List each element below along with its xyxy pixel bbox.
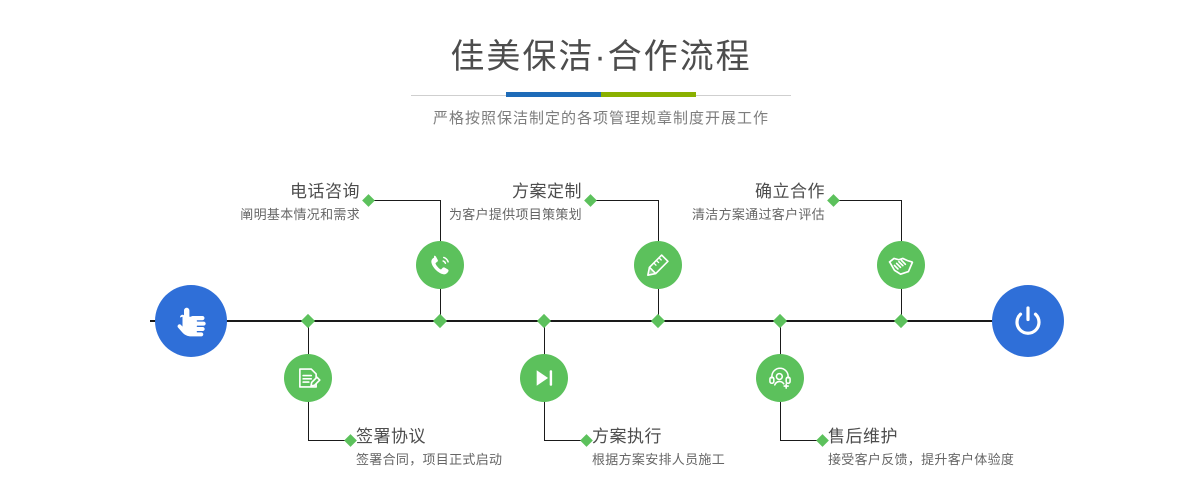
title-divider [411,92,791,98]
step-desc-3: 为客户提供项目策策划 [312,205,582,225]
customer-service-icon [767,365,793,391]
step-icon-1[interactable] [416,241,464,289]
step-label-5: 确立合作 清洁方案通过客户评估 [555,181,825,225]
step-title-6: 售后维护 [828,426,1014,448]
axis-marker-step-3 [651,314,665,328]
axis-marker-step-4 [537,314,551,328]
step-icon-3[interactable] [634,241,682,289]
connector-horizontal-step-3 [592,200,658,201]
document-edit-icon [295,365,321,391]
divider-segment-green [601,92,696,97]
play-execute-icon [531,365,557,391]
handshake-icon [887,251,915,279]
axis-marker-step-5 [894,314,908,328]
connector-horizontal-step-1 [370,200,440,201]
axis-marker-step-2 [301,314,315,328]
flow-end-node[interactable] [992,285,1064,357]
step-desc-2: 签署合同，项目正式启动 [356,450,502,470]
label-marker-step-2 [344,434,357,447]
step-label-4: 方案执行 根据方案安排人员施工 [592,426,725,470]
step-label-3: 方案定制 为客户提供项目策策划 [312,181,582,225]
timeline-axis [150,320,1050,322]
step-title-2: 签署协议 [356,426,502,448]
step-icon-6[interactable] [756,354,804,402]
divider-segment-blue [506,92,601,97]
pencil-ruler-icon [645,252,671,278]
label-marker-step-4 [580,434,593,447]
cooperation-flow-page: 佳美保洁·合作流程 严格按照保洁制定的各项管理规章制度开展工作 [0,0,1202,502]
step-icon-2[interactable] [284,354,332,402]
axis-marker-step-6 [773,314,787,328]
step-label-6: 售后维护 接受客户反馈，提升客户体验度 [828,426,1014,470]
step-title-3: 方案定制 [312,181,582,203]
step-label-2: 签署协议 签署合同，项目正式启动 [356,426,502,470]
page-subtitle: 严格按照保洁制定的各项管理规章制度开展工作 [0,108,1202,130]
step-desc-5: 清洁方案通过客户评估 [555,205,825,225]
step-desc-4: 根据方案安排人员施工 [592,450,725,470]
step-title-4: 方案执行 [592,426,725,448]
flow-diagram: 电话咨询 阐明基本情况和需求 签署协议 签署合同，项目正式启动 [0,150,1202,502]
page-header: 佳美保洁·合作流程 严格按照保洁制定的各项管理规章制度开展工作 [0,0,1202,130]
phone-call-icon [426,251,454,279]
power-button-icon [1008,301,1048,341]
connector-horizontal-step-5 [835,200,901,201]
pointing-hand-icon [171,301,211,341]
step-icon-4[interactable] [520,354,568,402]
step-icon-5[interactable] [877,241,925,289]
flow-start-node[interactable] [155,285,227,357]
axis-marker-step-1 [433,314,447,328]
label-marker-step-6 [816,434,829,447]
step-desc-6: 接受客户反馈，提升客户体验度 [828,450,1014,470]
label-marker-step-5 [827,194,840,207]
page-title: 佳美保洁·合作流程 [0,36,1202,78]
